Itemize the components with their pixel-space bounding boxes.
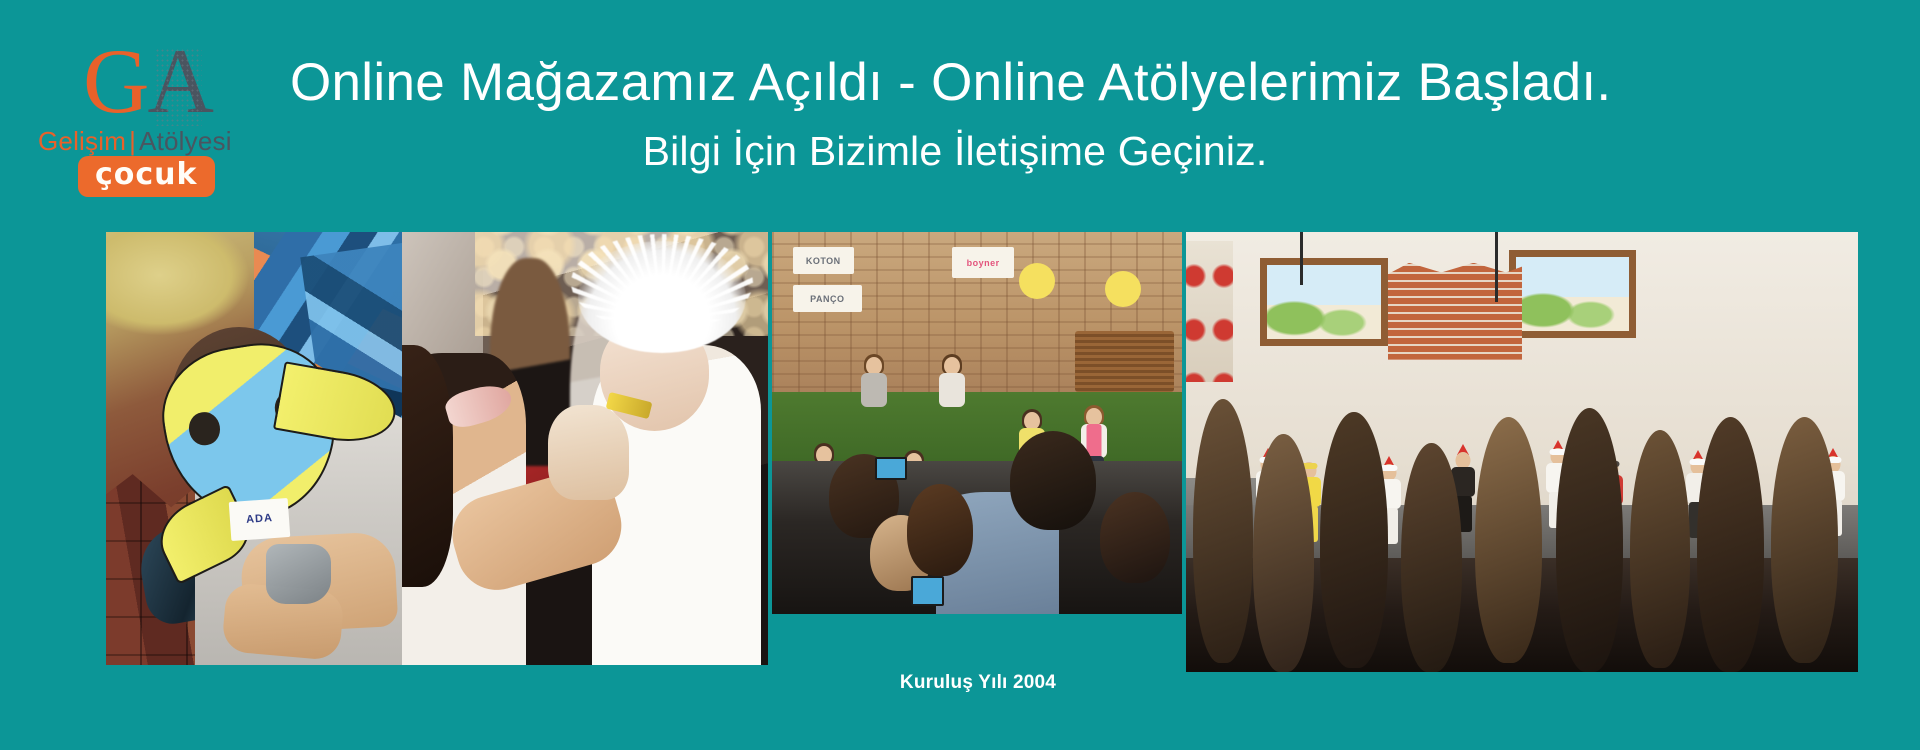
microphone-stand-2 bbox=[1495, 232, 1498, 302]
painted-scenery-frame-1 bbox=[1260, 258, 1388, 346]
audience-phone-2[interactable] bbox=[911, 576, 944, 607]
promo-banner: GA Gelişim|Atölyesi çocuk Online Mağazam… bbox=[0, 0, 1920, 750]
runway-model-6 bbox=[940, 357, 964, 415]
audience-head-9 bbox=[1771, 417, 1838, 663]
audience-head-5 bbox=[1100, 492, 1170, 584]
founding-year-caption: Kuruluş Yılı 2004 bbox=[772, 672, 1184, 694]
performer-headband bbox=[1381, 465, 1398, 471]
model-top bbox=[861, 373, 887, 407]
child-name-tag: ADA bbox=[229, 498, 291, 541]
painting-hand bbox=[548, 405, 629, 500]
audience-head-2 bbox=[1253, 434, 1313, 672]
audience-head-6 bbox=[1556, 408, 1623, 672]
microphone-stand-1 bbox=[1300, 232, 1303, 285]
audience-head-3 bbox=[1320, 412, 1387, 667]
painted-brick-wall-prop bbox=[1388, 263, 1522, 360]
audience-head-7 bbox=[1630, 430, 1690, 668]
paper-sun-prop-2 bbox=[1108, 274, 1138, 304]
photo-fashion-show: KOTON PANÇO boyner bbox=[772, 232, 1182, 614]
sponsor-sign-boyner: boyner bbox=[952, 247, 1014, 278]
audience-head-4 bbox=[1010, 431, 1096, 530]
photo-theatre-performance bbox=[1186, 232, 1858, 672]
painted-tree-panel bbox=[1186, 241, 1233, 382]
runway-model-5 bbox=[862, 357, 886, 415]
audience-head-1 bbox=[1193, 399, 1253, 663]
audience-head-8 bbox=[1697, 417, 1764, 672]
photo-face-painting bbox=[402, 232, 768, 665]
photo-collage: ADA bbox=[0, 0, 1920, 750]
model-top bbox=[939, 373, 965, 407]
audience-head-4 bbox=[1401, 443, 1461, 672]
feather-headdress bbox=[578, 241, 746, 354]
wooden-bench bbox=[1075, 331, 1173, 392]
sponsor-sign-panco: PANÇO bbox=[793, 285, 863, 312]
tshirt-print bbox=[266, 544, 331, 605]
audience-head-3 bbox=[907, 484, 973, 576]
painted-scenery-frame-2 bbox=[1509, 250, 1637, 338]
photo-child-paper-mask: ADA bbox=[106, 232, 402, 665]
audience-head-5 bbox=[1475, 417, 1542, 663]
sponsor-sign-koton: KOTON bbox=[793, 247, 855, 274]
audience-phone-1[interactable] bbox=[875, 457, 908, 480]
